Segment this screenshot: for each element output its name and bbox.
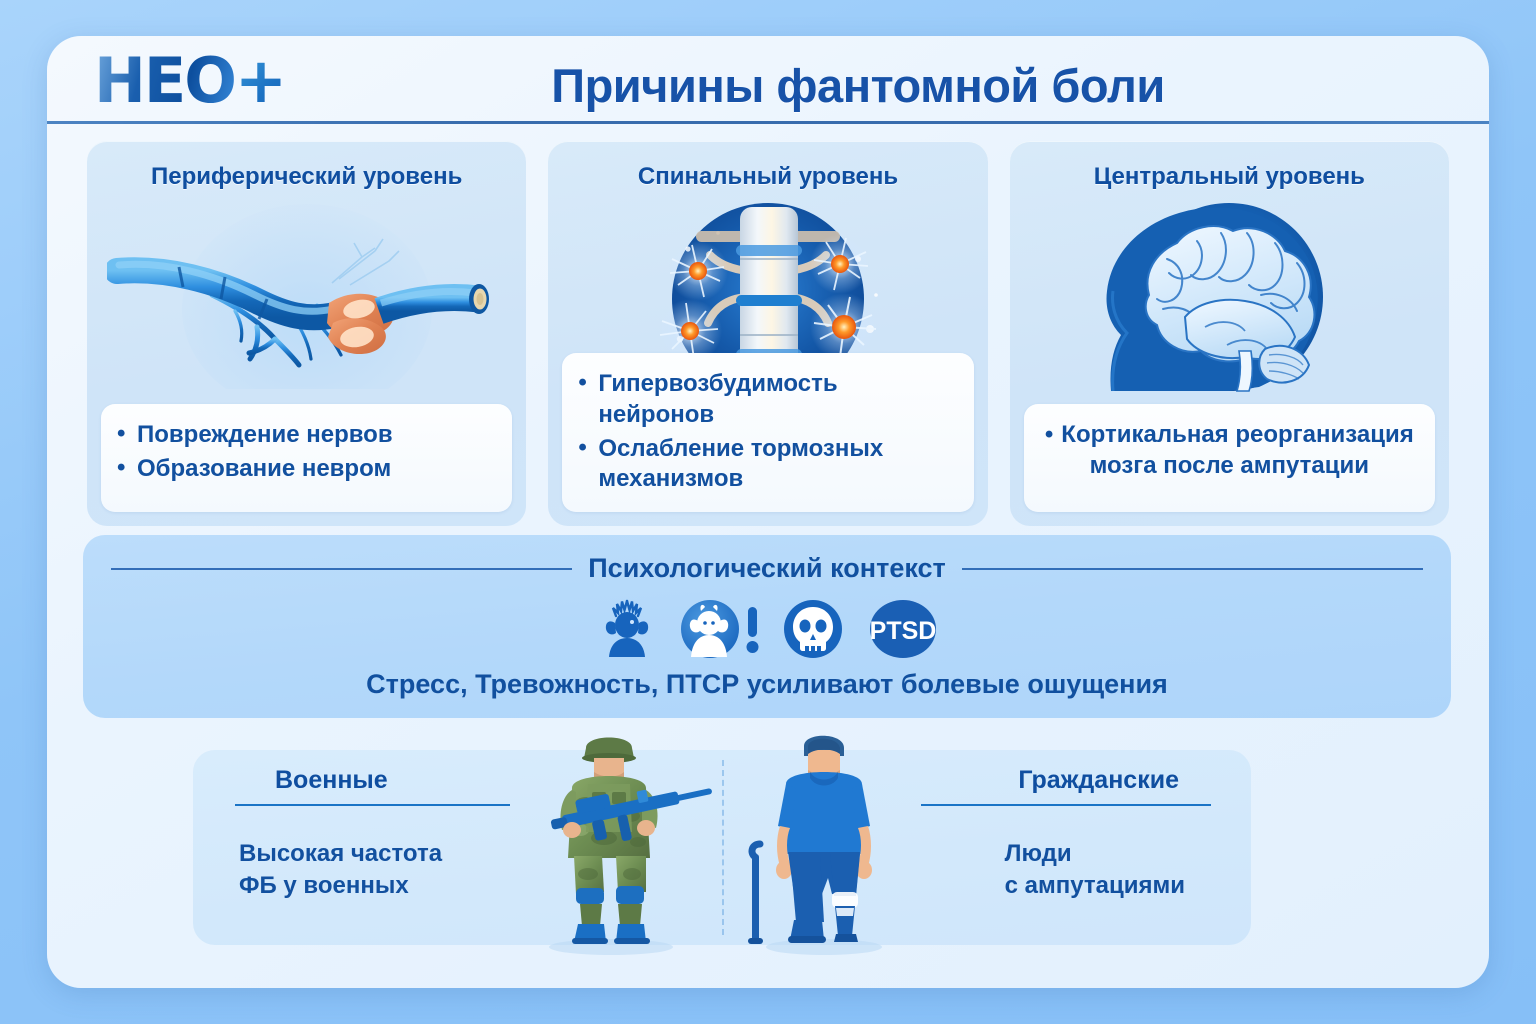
military-text-line1: Высокая частота: [239, 838, 442, 870]
military-text: Высокая частота ФБ у военных: [239, 838, 442, 901]
audience-comparison-section: Военные Высокая частота ФБ у военных: [193, 750, 1251, 945]
psychological-caption: Стресс, Тревожность, ПТСР усиливают боле…: [83, 669, 1451, 700]
header: HEO+ Причины фантомной боли: [47, 36, 1489, 120]
psychological-icon-row: PTSD: [83, 593, 1451, 670]
psychological-context-section: Психологический контекст: [83, 535, 1451, 718]
stress-person-icon: [591, 593, 663, 670]
infographic-root: HEO+ Причины фантомной боли Периферическ…: [0, 0, 1536, 1024]
bullet-item: Образование невром: [115, 454, 498, 485]
bullets-peripheral: Повреждение нервов Образование невром: [101, 404, 512, 512]
bullet-item: Кортикальная реорганизация мозга после а…: [1038, 420, 1421, 481]
level-title-central: Центральный уровень: [1010, 163, 1449, 191]
military-rule: [235, 804, 510, 806]
civilian-title: Гражданские: [1018, 766, 1179, 795]
civilian-rule: [921, 804, 1211, 806]
main-card: HEO+ Причины фантомной боли Периферическ…: [47, 36, 1489, 988]
civilian-text-line2: с ампутациями: [1005, 870, 1185, 902]
level-title-spinal: Спинальный уровень: [548, 163, 987, 191]
brain-head-profile-illustration: [1010, 199, 1449, 394]
ptsd-label: PTSD: [870, 617, 937, 645]
civilian-text: Люди с ампутациями: [1005, 838, 1185, 901]
damaged-nerve-illustration: [87, 199, 526, 394]
level-card-central[interactable]: Центральный уровень: [1010, 141, 1449, 526]
level-title-peripheral: Периферический уровень: [87, 163, 526, 191]
civilian-with-cane-prosthesis-figure: [732, 726, 912, 961]
bullet-item: Гипервозбудимость нейронов: [576, 369, 959, 430]
skull-icon: [777, 593, 849, 670]
psychological-header: Психологический контекст: [83, 553, 1451, 584]
comparison-column-military[interactable]: Военные Высокая частота ФБ у военных: [193, 750, 722, 945]
military-title: Военные: [275, 766, 388, 795]
level-card-spinal[interactable]: Спинальный уровень: [548, 141, 987, 526]
page-title: Причины фантомной боли: [47, 58, 1489, 113]
ptsd-badge-icon: PTSD: [863, 593, 943, 670]
header-rule-right: [962, 568, 1423, 570]
bullet-item: Повреждение нервов: [115, 420, 498, 451]
header-rule-left: [111, 568, 572, 570]
comparison-column-civilian[interactable]: Гражданские Люди с ампутациями: [722, 750, 1251, 945]
bullet-item: Ослабление тормозных механизмов: [576, 434, 959, 495]
levels-row: Периферический уровень: [87, 141, 1449, 526]
psychological-title: Психологический контекст: [588, 553, 945, 584]
military-text-line2: ФБ у военных: [239, 870, 442, 902]
civilian-text-line1: Люди: [1005, 838, 1185, 870]
bullets-spinal: Гипервозбудимость нейронов Ослабление то…: [562, 353, 973, 512]
bullets-central: Кортикальная реорганизация мозга после а…: [1024, 404, 1435, 512]
header-divider: [47, 121, 1489, 124]
anxiety-person-exclamation-icon: [677, 593, 763, 670]
soldier-with-prosthesis-figure: [506, 726, 716, 961]
level-card-peripheral[interactable]: Периферический уровень: [87, 141, 526, 526]
